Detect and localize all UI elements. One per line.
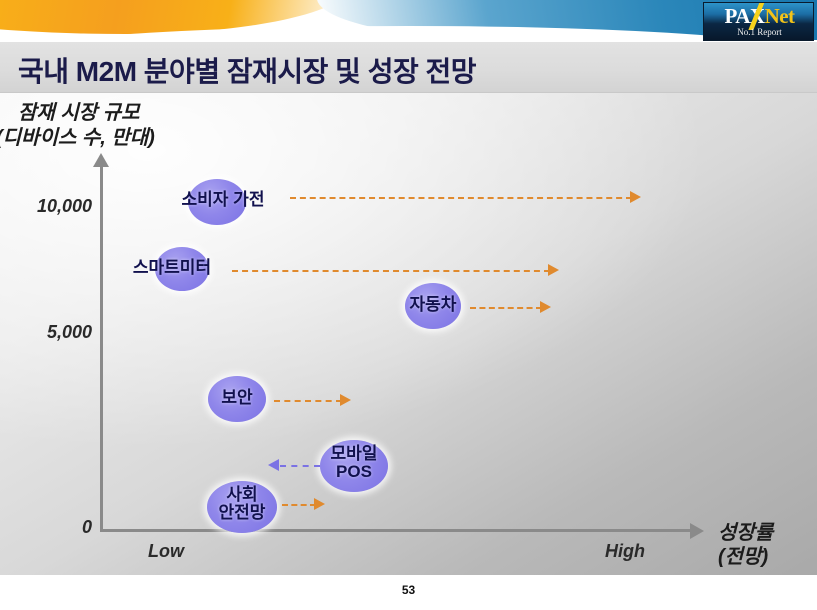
growth-arrowhead-social-safety-net-icon <box>314 498 325 510</box>
growth-arrow-consumer-electronics <box>290 197 632 199</box>
growth-arrowhead-consumer-electronics-icon <box>630 191 641 203</box>
growth-arrowhead-automobile-icon <box>540 301 551 313</box>
x-tick-high: High <box>605 541 645 562</box>
bubble-label-smart-meter: 스마트미터 <box>110 259 234 277</box>
slide-title-bar: 국내 M2M 분야별 잠재시장 및 성장 전망 <box>0 42 817 93</box>
page-number: 53 <box>0 583 817 597</box>
bubble-label-mobile-pos: 모바일 POS <box>318 445 390 481</box>
x-axis-title-line1: 성장률 <box>718 522 773 544</box>
logo-tagline: No.1 Report <box>704 27 814 37</box>
x-axis-arrowhead-icon <box>690 523 704 539</box>
y-tick-label: 10,000 <box>2 196 92 217</box>
growth-arrow-social-safety-net <box>282 504 316 506</box>
y-axis-title-line2: (디바이스 수, 만대) <box>0 126 155 151</box>
bubble-label-mobile-pos-line1: 모바일 <box>331 444 378 463</box>
growth-arrow-mobile-pos <box>280 465 320 467</box>
growth-arrow-smart-meter <box>232 270 550 272</box>
y-tick-label: 5,000 <box>2 322 92 343</box>
bubble-label-social-safety-net-line1: 사회 <box>226 485 257 504</box>
y-axis-line <box>100 165 103 531</box>
slide-footer: 53 <box>0 575 817 610</box>
chart-area: 잠재 시장 규모 (디바이스 수, 만대) 성장률 (전망) 10,000 5,… <box>0 93 817 575</box>
page-title: 국내 M2M 분야별 잠재시장 및 성장 전망 <box>18 50 476 90</box>
y-axis-title-line1: 잠재 시장 규모 <box>18 102 140 124</box>
growth-arrow-automobile <box>470 307 542 309</box>
header-banner <box>0 0 817 42</box>
y-tick-label: 0 <box>2 517 92 538</box>
growth-arrowhead-mobile-pos-icon <box>268 459 279 471</box>
growth-arrowhead-smart-meter-icon <box>548 264 559 276</box>
x-axis-title-line2: (전망) <box>718 546 768 568</box>
y-axis-title: 잠재 시장 규모 (디바이스 수, 만대) <box>18 101 155 151</box>
bubble-label-automobile: 자동차 <box>392 296 474 314</box>
growth-arrow-security <box>274 400 342 402</box>
y-axis-arrowhead-icon <box>93 153 109 167</box>
bubble-label-social-safety-net-line2: 안전망 <box>219 503 266 522</box>
x-axis-title: 성장률 (전망) <box>718 521 773 569</box>
x-axis-line <box>100 529 692 532</box>
bubble-label-mobile-pos-line2: POS <box>336 462 372 481</box>
logo-text-pax: PA <box>724 4 749 28</box>
bubble-label-social-safety-net: 사회 안전망 <box>205 486 279 522</box>
bubble-label-security: 보안 <box>207 389 267 407</box>
growth-arrowhead-security-icon <box>340 394 351 406</box>
x-tick-low: Low <box>148 541 184 562</box>
logo-text-net: Net <box>765 4 795 28</box>
bubble-label-consumer-electronics: 소비자 가전 <box>158 191 288 209</box>
paxnet-logo: PAXNet No.1 Report <box>703 2 814 41</box>
